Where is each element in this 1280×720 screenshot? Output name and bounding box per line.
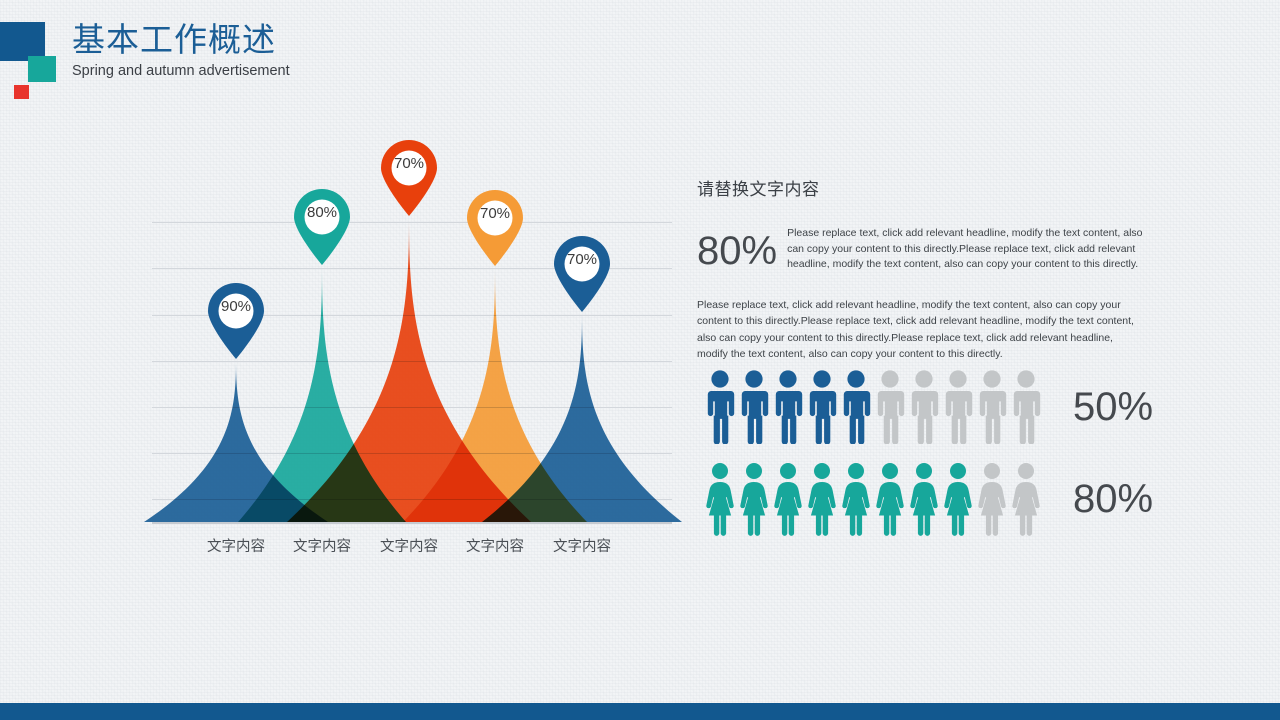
map-pin-icon [379, 139, 439, 217]
map-pin-icon [206, 282, 266, 360]
map-pin-icon [552, 235, 612, 313]
female-figure-icon [977, 462, 1007, 536]
pictogram-row-male: 50% [705, 370, 1153, 444]
pictogram-male-figure-3-filled [773, 370, 803, 444]
male-figure-icon [909, 370, 939, 444]
female-figure-icon [841, 462, 871, 536]
male-figure-icon [875, 370, 905, 444]
panel-stat-value: 80% [697, 230, 777, 272]
pictogram-figures-male [705, 370, 1045, 444]
pictogram-label-male: 50% [1073, 387, 1153, 427]
pictogram-female-figure-2-filled [739, 462, 769, 536]
pictogram-female-figure-10-empty [1011, 462, 1041, 536]
female-figure-icon [909, 462, 939, 536]
pictogram-male-figure-1-filled [705, 370, 735, 444]
female-figure-icon [875, 462, 905, 536]
pictogram-female-figure-6-filled [875, 462, 905, 536]
male-figure-icon [807, 370, 837, 444]
male-figure-icon [841, 370, 871, 444]
map-pin-icon [465, 189, 525, 267]
panel-heading: 请替换文字内容 [697, 175, 1147, 200]
pictogram-male-figure-8-empty [943, 370, 973, 444]
panel-body-paragraph: Please replace text, click add relevant … [697, 297, 1137, 363]
chart-x-label-5: 文字内容 [527, 535, 637, 556]
chart-pin-5[interactable]: 70% [552, 235, 612, 313]
chart-pin-2[interactable]: 80% [292, 188, 352, 266]
chart-pin-3[interactable]: 70% [379, 139, 439, 217]
pictogram-female-figure-4-filled [807, 462, 837, 536]
female-figure-icon [739, 462, 769, 536]
female-figure-icon [705, 462, 735, 536]
panel-stat-row: 80% Please replace text, click add relev… [697, 222, 1147, 273]
male-figure-icon [773, 370, 803, 444]
pictogram-male-figure-2-filled [739, 370, 769, 444]
chart-pin-1[interactable]: 90% [206, 282, 266, 360]
female-figure-icon [773, 462, 803, 536]
pictogram-male-figure-9-empty [977, 370, 1007, 444]
pictogram-row-female: 80% [705, 462, 1153, 536]
pictogram-female-figure-1-filled [705, 462, 735, 536]
pictogram-male-figure-4-filled [807, 370, 837, 444]
pictogram-label-female: 80% [1073, 479, 1153, 519]
pictogram-female-figure-7-filled [909, 462, 939, 536]
pictogram-male-figure-10-empty [1011, 370, 1041, 444]
map-pin-icon [292, 188, 352, 266]
peak-chart: 90%80%70%70%70% 文字内容文字内容文字内容文字内容文字内容 [0, 0, 700, 600]
text-panel: 请替换文字内容 80% Please replace text, click a… [697, 175, 1147, 363]
pictogram-figures-female [705, 462, 1045, 536]
panel-stat-paragraph: Please replace text, click add relevant … [787, 222, 1147, 273]
male-figure-icon [1011, 370, 1041, 444]
pictogram-female-figure-3-filled [773, 462, 803, 536]
male-figure-icon [943, 370, 973, 444]
pictogram-male-figure-5-filled [841, 370, 871, 444]
male-figure-icon [977, 370, 1007, 444]
footer-bar [0, 703, 1280, 720]
pictogram-female-figure-9-empty [977, 462, 1007, 536]
male-figure-icon [739, 370, 769, 444]
pictogram-male-figure-7-empty [909, 370, 939, 444]
pictogram-female-figure-5-filled [841, 462, 871, 536]
female-figure-icon [807, 462, 837, 536]
male-figure-icon [705, 370, 735, 444]
chart-pin-4[interactable]: 70% [465, 189, 525, 267]
pictogram-female-figure-8-filled [943, 462, 973, 536]
female-figure-icon [1011, 462, 1041, 536]
female-figure-icon [943, 462, 973, 536]
pictogram-male-figure-6-empty [875, 370, 905, 444]
